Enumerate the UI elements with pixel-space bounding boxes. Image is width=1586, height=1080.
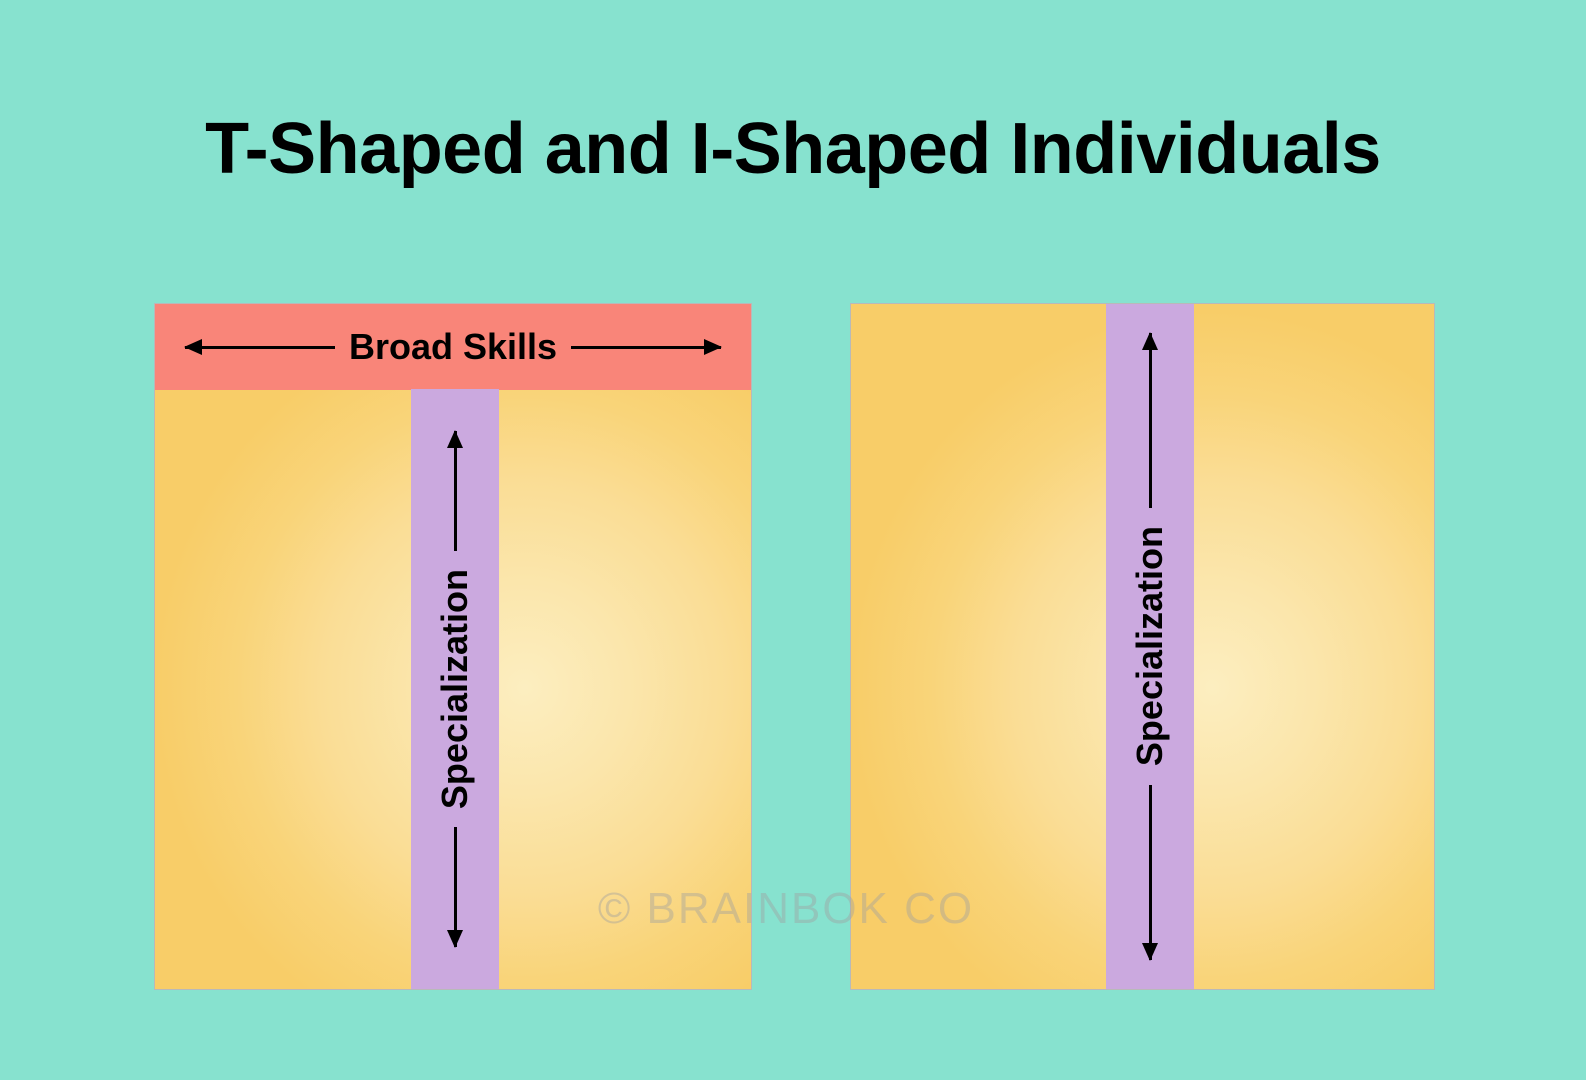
specialization-label: Specialization	[1132, 508, 1168, 784]
specialization-column-t-shaped: Specialization	[411, 389, 499, 989]
specialization-arrow-up-icon	[443, 431, 467, 551]
diagram-t-shaped: Broad Skills Specialization	[154, 303, 752, 990]
broad-skills-arrow-right-icon	[571, 335, 721, 359]
broad-skills-arrow-left-icon	[185, 335, 335, 359]
specialization-label: Specialization	[437, 551, 473, 827]
specialization-arrow-down-icon	[443, 827, 467, 947]
broad-skills-bar: Broad Skills	[155, 304, 751, 390]
specialization-arrow-down-icon	[1138, 785, 1162, 960]
diagram-i-shaped: Specialization	[850, 303, 1435, 990]
specialization-arrow-up-icon	[1138, 333, 1162, 508]
page-title: T-Shaped and I-Shaped Individuals	[0, 112, 1586, 188]
broad-skills-label: Broad Skills	[335, 326, 571, 368]
specialization-column-i-shaped: Specialization	[1106, 304, 1194, 989]
diagram-canvas: T-Shaped and I-Shaped Individuals Broad …	[0, 0, 1586, 1080]
